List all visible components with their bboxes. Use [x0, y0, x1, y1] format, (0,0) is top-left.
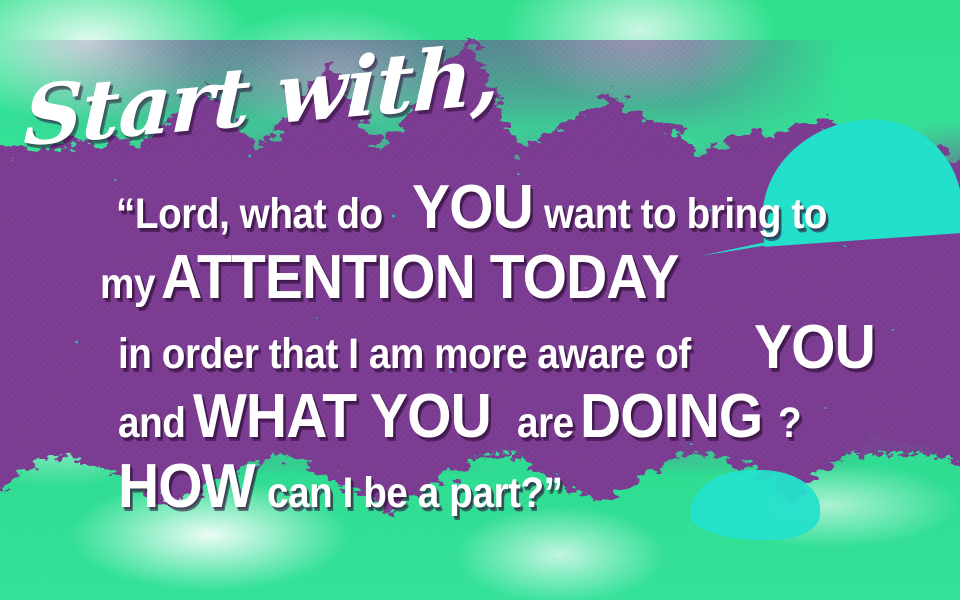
quote-segment-emphasis: DOING [580, 387, 762, 448]
quote-line-2: my ATTENTION TODAY [22, 248, 938, 309]
quote-line-4: and WHAT YOU are DOING? [22, 387, 938, 448]
quote-segment: and [118, 402, 185, 444]
quote-segment: want to bring to [544, 193, 827, 235]
quote-line-1: “Lord, what do YOU want to bring to [22, 178, 938, 239]
quote-segment: can I be a part?” [267, 472, 563, 514]
quote-line-3: in order that I am more aware of YOU [22, 318, 938, 379]
quote-line-5: HOW can I be a part?” [22, 457, 938, 518]
quote-segment: “Lord, what do [116, 193, 383, 235]
quote-segment: ? [778, 402, 801, 444]
quote-segment: in order that I am more aware of [118, 333, 691, 375]
text-content: Start with, “Lord, what do YOU want to b… [0, 0, 960, 600]
quote-segment: are [517, 402, 574, 444]
quote-segment-emphasis: ATTENTION TODAY [161, 248, 679, 309]
quote-block: “Lord, what do YOU want to bring to my A… [0, 178, 960, 527]
quote-segment-emphasis: HOW [118, 457, 255, 518]
quote-segment-emphasis: YOU [754, 318, 875, 379]
quote-segment-emphasis: WHAT YOU [193, 387, 491, 448]
quote-graphic: Start with, “Lord, what do YOU want to b… [0, 0, 960, 600]
quote-segment-emphasis: YOU [412, 178, 533, 239]
script-heading: Start with, [23, 34, 501, 158]
quote-segment: my [100, 263, 155, 305]
